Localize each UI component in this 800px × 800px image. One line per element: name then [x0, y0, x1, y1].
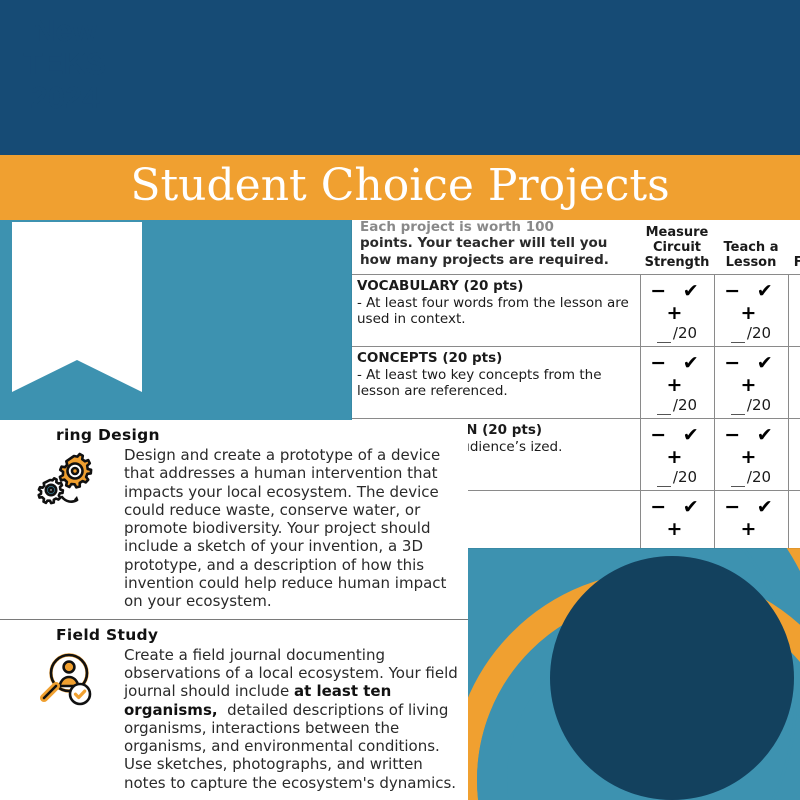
- score-cell[interactable]: − ✔ + /20: [788, 275, 800, 347]
- project-body: Create a field journal documenting obser…: [124, 646, 462, 792]
- rubric-intro: Each project is worth 100 points. Your t…: [352, 220, 640, 274]
- criterion-body: - At least four words from the lesson ar…: [357, 295, 635, 327]
- rubric-intro-text: points. Your teacher will tell you how m…: [360, 235, 609, 267]
- score-cell[interactable]: − ✔ + /20: [640, 275, 714, 347]
- gears-icon: [36, 450, 100, 510]
- mark-symbols[interactable]: − ✔ +: [794, 350, 800, 396]
- ribbon-line-2: TEKS: [0, 47, 130, 80]
- new-teks-ribbon: [12, 222, 142, 392]
- table-row: VOCABULARY (20 pts) - At least four word…: [352, 275, 800, 347]
- score-cell[interactable]: − ✔ + /20: [714, 419, 788, 491]
- project-title: ring Design: [56, 426, 468, 444]
- ribbon-line-3: 2024: [0, 81, 130, 114]
- criterion-vocabulary: VOCABULARY (20 pts) - At least four word…: [352, 275, 640, 347]
- ribbon-line-1: New: [0, 14, 130, 47]
- score-blank[interactable]: /20: [641, 396, 714, 414]
- mark-symbols[interactable]: − ✔ +: [794, 422, 800, 468]
- score-blank[interactable]: /20: [715, 324, 788, 342]
- criterion-concepts: CONCEPTS (20 pts) - At least two key con…: [352, 347, 640, 419]
- project-choice-document: ring Design Design and create a prototyp…: [0, 420, 468, 800]
- score-blank[interactable]: /20: [715, 396, 788, 414]
- criterion-body: audience’s ized.: [453, 439, 635, 455]
- product-cover: ADAPTATIONS FOR SURVIVAL Student Choice …: [0, 0, 800, 800]
- score-blank[interactable]: /20: [789, 396, 800, 414]
- score-cell[interactable]: − ✔ +: [788, 419, 800, 491]
- score-blank[interactable]: /20: [641, 324, 714, 342]
- mark-symbols[interactable]: − ✔ +: [646, 422, 709, 468]
- score-cell[interactable]: − ✔ + /20: [714, 347, 788, 419]
- score-cell[interactable]: − ✔ + /20: [714, 275, 788, 347]
- table-header-row: Each project is worth 100 points. Your t…: [352, 220, 800, 275]
- score-cell[interactable]: − ✔ + /20: [640, 347, 714, 419]
- project-body: Design and create a prototype of a devic…: [124, 446, 462, 611]
- score-blank[interactable]: /20: [789, 324, 800, 342]
- rubric-intro-clipped: Each project is worth 100: [360, 220, 632, 235]
- score-blank[interactable]: /20: [641, 468, 714, 486]
- criterion-body: - At least two key concepts from the les…: [357, 367, 635, 399]
- project-field-study: Field Study Create a field journal docum…: [0, 619, 468, 800]
- mark-symbols[interactable]: − ✔ +: [646, 350, 709, 396]
- score-cell[interactable]: − ✔ + /20: [788, 347, 800, 419]
- ribbon-label: New TEKS 2024: [0, 14, 130, 114]
- column-header-measure-circuit-strength: Measure Circuit Strength: [640, 220, 714, 275]
- grade-level-badge: [520, 528, 800, 800]
- mark-symbols[interactable]: − ✔ +: [646, 278, 709, 324]
- mark-symbols[interactable]: − ✔ +: [720, 422, 783, 468]
- column-header-teach-a-lesson: Teach a Lesson: [714, 220, 788, 275]
- mark-symbols[interactable]: − ✔ +: [794, 278, 800, 324]
- project-title: Field Study: [56, 626, 468, 644]
- criterion-title: CONCEPTS (20 pts): [357, 350, 635, 366]
- table-row: CONCEPTS (20 pts) - At least two key con…: [352, 347, 800, 419]
- score-cell[interactable]: − ✔ + /20: [640, 419, 714, 491]
- score-blank[interactable]: /20: [715, 468, 788, 486]
- project-engineering-design: ring Design Design and create a prototyp…: [0, 420, 468, 619]
- mark-symbols[interactable]: − ✔ +: [720, 278, 783, 324]
- criterion-title: VOCABULARY (20 pts): [357, 278, 635, 294]
- magnifier-person-icon: [36, 650, 100, 710]
- subtitle: Student Choice Projects: [0, 155, 800, 220]
- mark-symbols[interactable]: − ✔ +: [720, 350, 783, 396]
- column-header-foldable: Foldable: [788, 220, 800, 275]
